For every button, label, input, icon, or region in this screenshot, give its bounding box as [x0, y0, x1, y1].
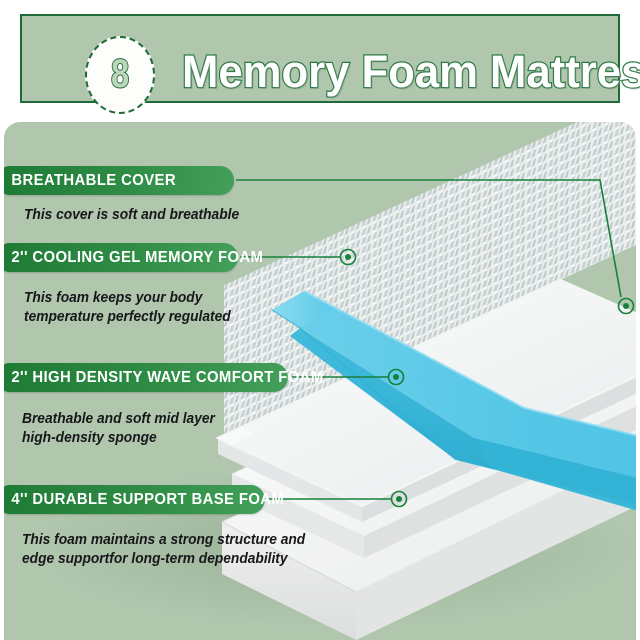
layer-label-high-density-wave-comfort-foam[interactable]: 2'' HIGH DENSITY WAVE COMFORT FOAM: [4, 363, 288, 392]
header-band: 8 Memory Foam Mattress: [20, 14, 620, 103]
layer-label-durable-support-base-foam[interactable]: 4'' DURABLE SUPPORT BASE FOAM: [4, 485, 265, 514]
layer-label-text: BREATHABLE COVER: [11, 172, 176, 190]
main-panel: BREATHABLE COVER This cover is soft and …: [4, 122, 636, 640]
layer-label-text: 2'' COOLING GEL MEMORY FOAM: [11, 249, 263, 267]
page-title: Memory Foam Mattress: [182, 39, 619, 103]
layer-label-breathable-cover[interactable]: BREATHABLE COVER: [4, 166, 234, 195]
infographic-root: 8 Memory Foam Mattress: [0, 0, 640, 640]
layer-label-text: 4'' DURABLE SUPPORT BASE FOAM: [11, 491, 284, 509]
layer-description-high-density-wave-comfort-foam: Breathable and soft mid layer high-densi…: [22, 410, 269, 448]
layer-label-cooling-gel-memory-foam[interactable]: 2'' COOLING GEL MEMORY FOAM: [4, 243, 238, 272]
layer-label-text: 2'' HIGH DENSITY WAVE COMFORT FOAM: [11, 369, 323, 387]
step-number-text: 8: [111, 54, 129, 94]
layer-description-breathable-cover: This cover is soft and breathable: [24, 206, 290, 225]
step-number-badge: 8: [85, 36, 155, 114]
layer-description-cooling-gel-memory-foam: This foam keeps your body temperature pe…: [24, 289, 271, 327]
layer-description-durable-support-base-foam: This foam maintains a strong structure a…: [22, 531, 307, 569]
